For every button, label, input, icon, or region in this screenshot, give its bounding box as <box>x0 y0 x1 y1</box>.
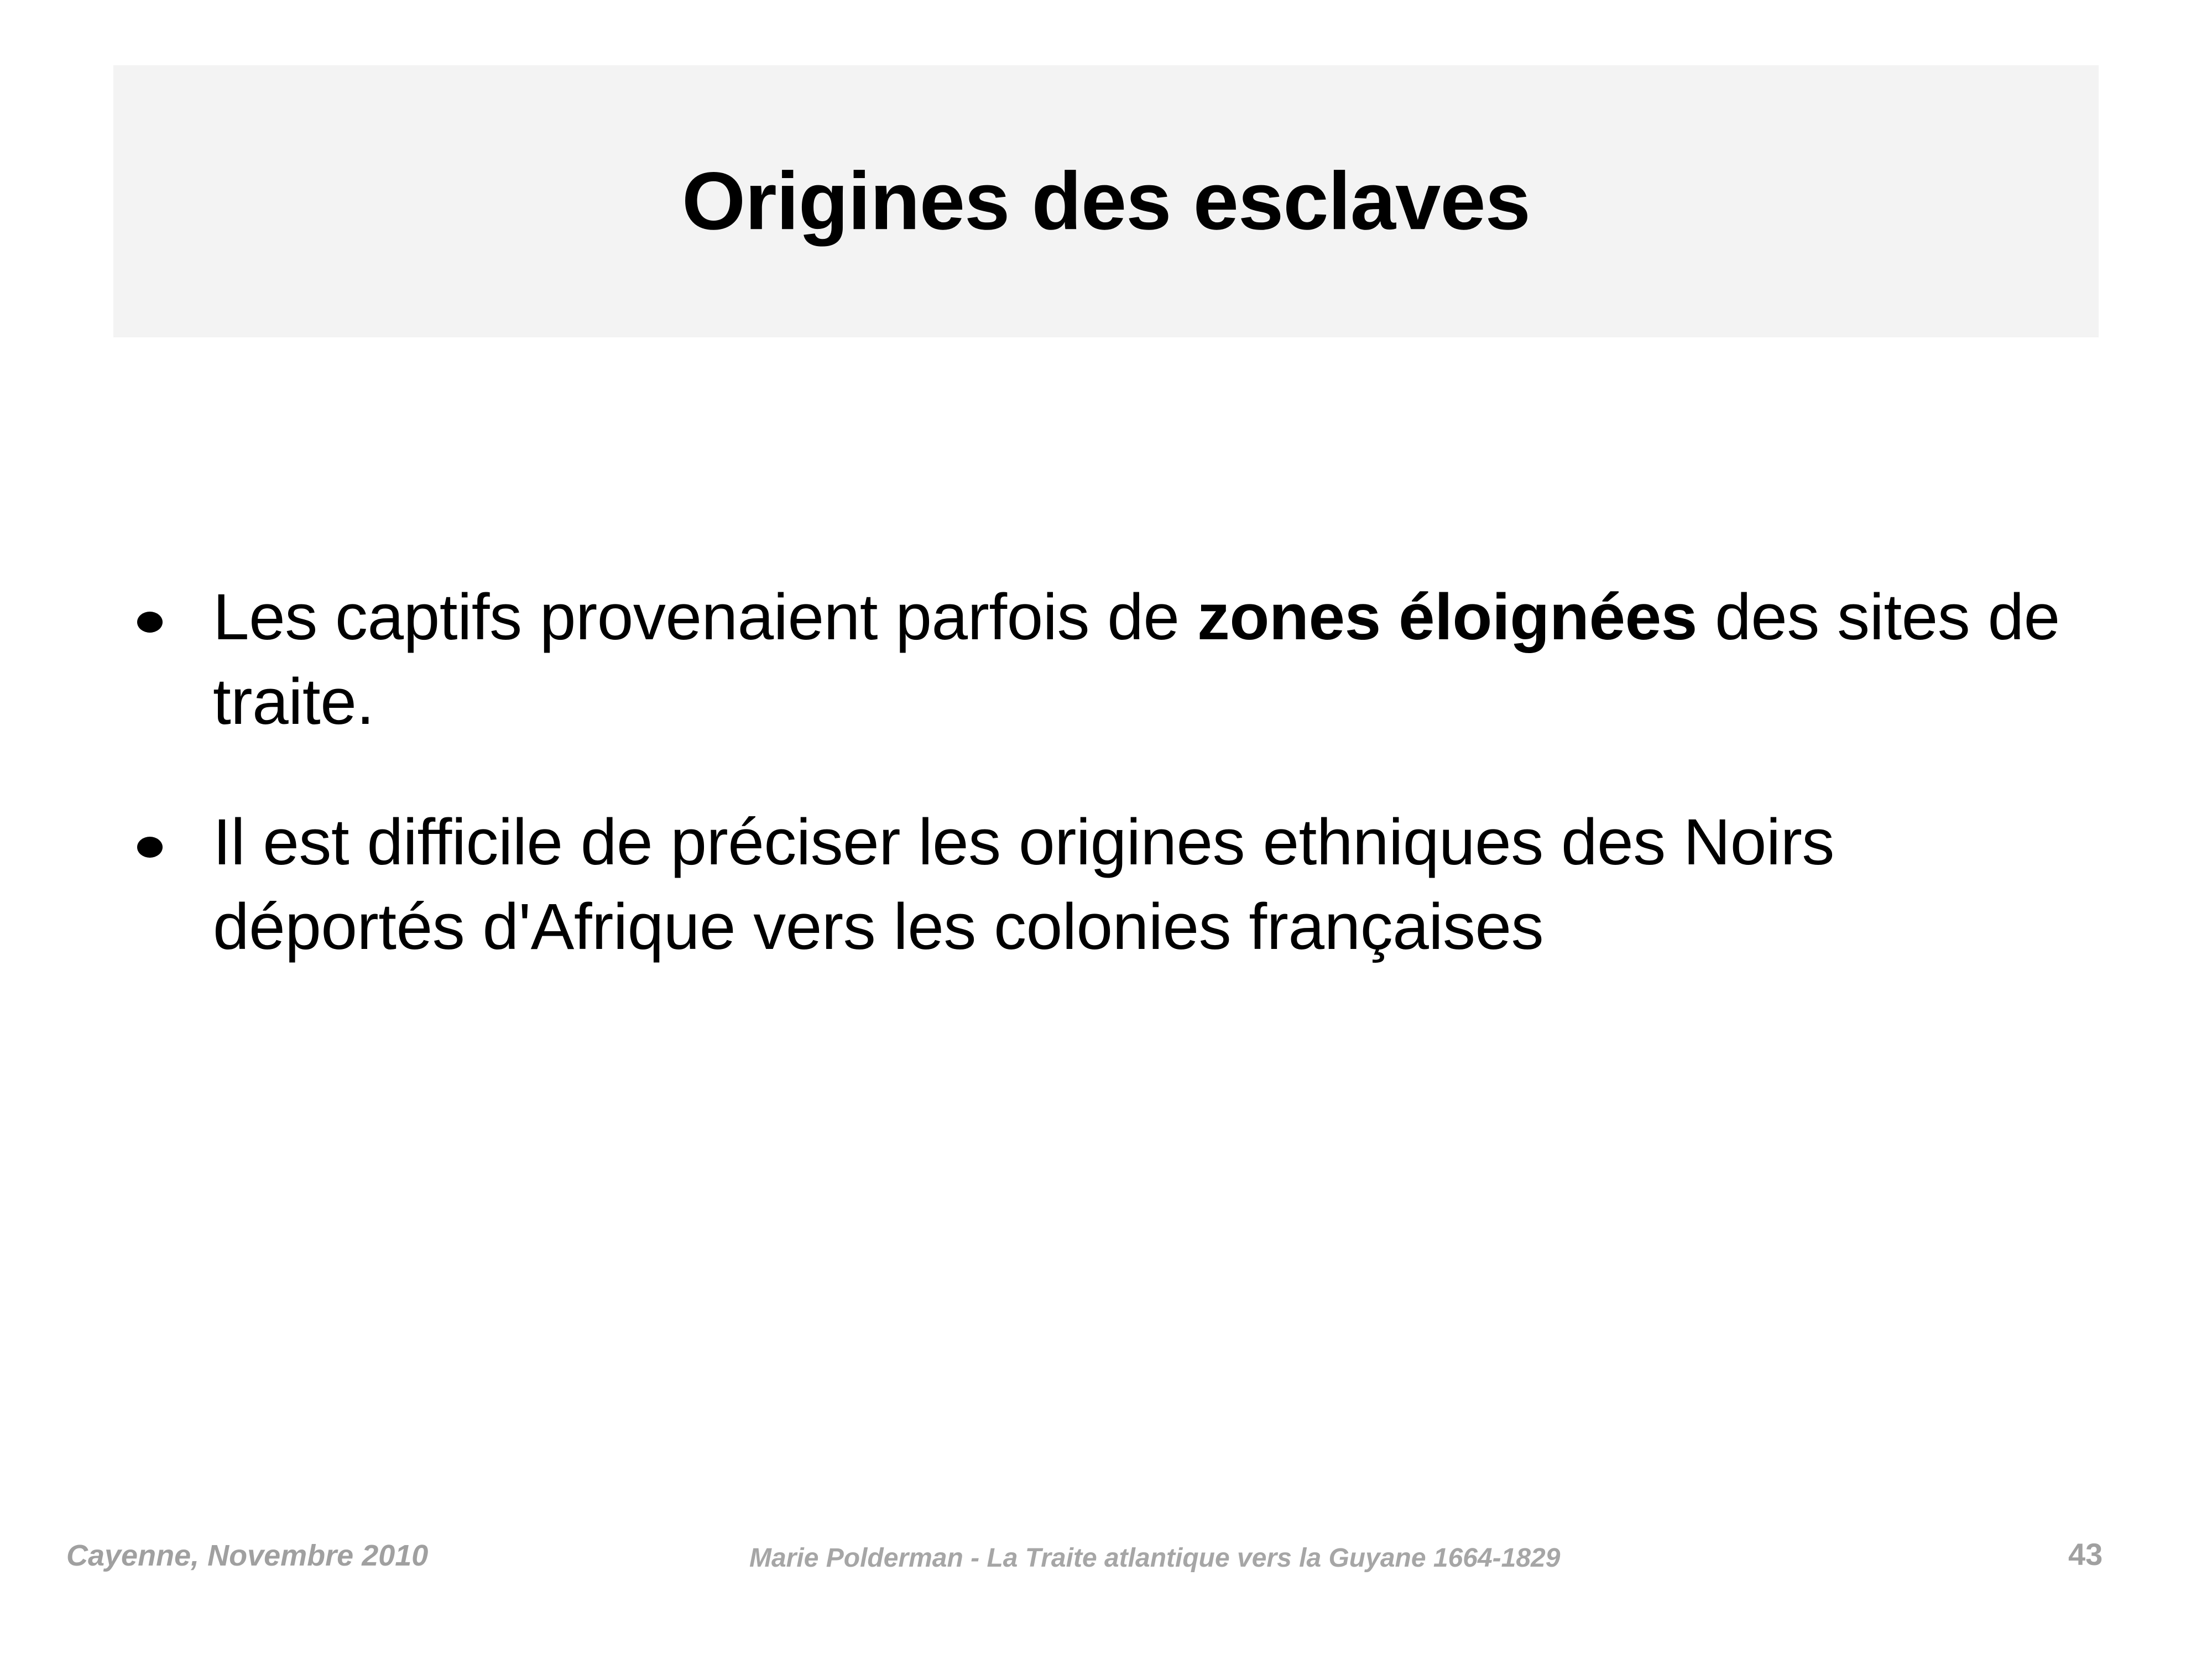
bullet-dot-icon <box>137 837 163 858</box>
text-segment: Les captifs provenaient parfois de <box>213 581 1197 654</box>
list-item: Il est difficile de préciser les origine… <box>127 800 2096 970</box>
bullet-dot-icon <box>137 612 163 633</box>
list-item-text: Il est difficile de préciser les origine… <box>213 800 2096 970</box>
bullet-list: Les captifs provenaient parfois de zones… <box>127 575 2096 970</box>
list-item: Les captifs provenaient parfois de zones… <box>127 575 2096 745</box>
footer-location-date: Cayenne, Novembre 2010 <box>66 1538 428 1573</box>
page-number: 43 <box>2068 1536 2103 1572</box>
slide-canvas: Origines des esclaves Les captifs proven… <box>0 0 2212 1659</box>
title-band: Origines des esclaves <box>113 65 2099 337</box>
footer-attribution: Marie Polderman - La Traite atlantique v… <box>749 1543 1560 1573</box>
page-title: Origines des esclaves <box>113 158 2099 244</box>
text-segment-bold: zones éloignées <box>1197 581 1697 654</box>
slide-footer: Cayenne, Novembre 2010 Marie Polderman -… <box>0 1533 2212 1605</box>
list-item-text: Les captifs provenaient parfois de zones… <box>213 575 2096 745</box>
text-segment: Il est difficile de préciser les origine… <box>213 806 1834 963</box>
